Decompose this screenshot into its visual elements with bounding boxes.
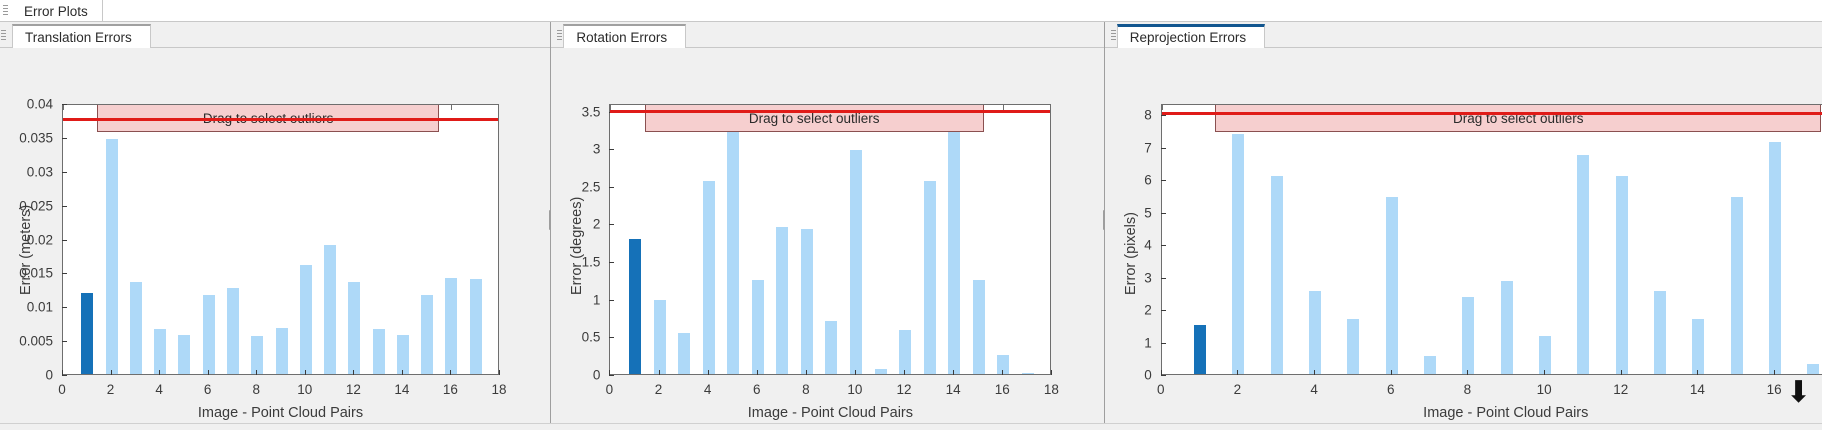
y-axis-tick-label: 0 (1105, 368, 1152, 383)
x-axis-tick-mark (111, 370, 112, 375)
bar[interactable] (973, 280, 985, 374)
x-axis-tick-mark (62, 370, 63, 375)
x-axis-tick-mark (1391, 370, 1392, 375)
bar[interactable] (1501, 281, 1513, 374)
bar[interactable] (1539, 336, 1551, 374)
bar[interactable] (348, 282, 360, 374)
document-tab-strip-background (0, 0, 1822, 22)
x-axis-tick-label: 10 (1537, 382, 1552, 397)
tab-label-rotation-errors: Rotation Errors (576, 30, 667, 45)
bar[interactable] (1462, 297, 1474, 374)
y-axis-title: Error (pixels) (1123, 212, 1139, 295)
y-axis-tick-label: 0.01 (0, 300, 53, 315)
x-axis-tick-mark (757, 370, 758, 375)
x-axis-title: Image - Point Cloud Pairs (748, 405, 913, 421)
document-tab-strip: Error Plots (0, 0, 1822, 22)
panel-translation-errors: Translation Errors Drag to select outlie… (0, 22, 550, 430)
y-axis-tick-mark (62, 206, 67, 207)
bar[interactable] (875, 369, 887, 374)
bar[interactable] (106, 139, 118, 374)
y-axis-tick-mark (1161, 245, 1166, 246)
bar[interactable] (924, 181, 936, 374)
y-axis-tick-mark (1161, 278, 1166, 279)
x-axis-tick-label: 4 (155, 382, 163, 397)
x-axis-tick-label: 8 (802, 382, 810, 397)
bar[interactable] (300, 265, 312, 374)
panel-tab-grip-icon-1[interactable] (1, 30, 6, 43)
panel-tabrow-1: Translation Errors (0, 22, 550, 48)
y-axis-tick-mark (62, 307, 67, 308)
y-axis-tick-label: 3.5 (551, 104, 600, 119)
x-axis-tick-mark (1161, 370, 1162, 375)
bar[interactable] (1577, 155, 1589, 374)
x-axis-tick-mark (904, 370, 905, 375)
x-axis-tick-mark (1544, 370, 1545, 375)
bar[interactable] (373, 329, 385, 374)
bar[interactable] (678, 333, 690, 374)
tab-rotation-errors[interactable]: Rotation Errors (563, 24, 686, 48)
bar[interactable] (130, 282, 142, 374)
x-axis-tick-label: 6 (1387, 382, 1395, 397)
x-axis-tick-label: 10 (297, 382, 312, 397)
bar[interactable] (1232, 134, 1244, 374)
x-axis-tick-label: 16 (995, 382, 1010, 397)
bar[interactable] (703, 181, 715, 374)
document-tab-error-plots[interactable]: Error Plots (12, 0, 103, 22)
bar[interactable] (178, 335, 190, 374)
y-axis-tick-mark (1161, 213, 1166, 214)
x-axis-tick-label: 14 (1690, 382, 1705, 397)
outlier-threshold-line[interactable] (1162, 112, 1822, 115)
x-axis-tick-label: 2 (655, 382, 663, 397)
y-axis-tick-mark (1161, 310, 1166, 311)
panels-container: Translation Errors Drag to select outlie… (0, 22, 1822, 430)
bar[interactable] (1271, 176, 1283, 374)
x-axis-tick-mark (450, 370, 451, 375)
bar[interactable] (203, 295, 215, 374)
y-axis-tick-mark (609, 187, 614, 188)
outlier-threshold-line[interactable] (610, 110, 1051, 113)
y-axis-tick-label: 0.5 (551, 330, 600, 345)
x-axis-tick-label: 18 (1044, 382, 1059, 397)
y-axis-tick-mark (609, 375, 614, 376)
x-axis-tick-mark (1314, 370, 1315, 375)
y-axis-tick-label: 7 (1105, 140, 1152, 155)
y-axis-tick-label: 2 (1105, 303, 1152, 318)
bar[interactable] (1616, 176, 1628, 374)
y-axis-tick-label: 0 (0, 368, 53, 383)
x-axis-tick-mark (708, 370, 709, 375)
y-axis-tick-mark (609, 300, 614, 301)
panel-tabrow-3: Reprojection Errors (1105, 22, 1822, 48)
bar[interactable] (324, 245, 336, 374)
x-axis-tick-mark (208, 370, 209, 375)
bar[interactable] (752, 280, 764, 374)
bar[interactable] (251, 336, 263, 374)
y-axis-tick-label: 1 (1105, 335, 1152, 350)
plot-area[interactable]: Drag to select outliers (609, 104, 1051, 375)
tab-label-reprojection-errors: Reprojection Errors (1130, 30, 1246, 45)
y-axis-tick-mark (62, 341, 67, 342)
bar[interactable] (1309, 291, 1321, 374)
x-axis-tick-label: 16 (443, 382, 458, 397)
x-axis-tick-label: 2 (1234, 382, 1242, 397)
x-axis-tick-mark (402, 370, 403, 375)
x-axis-tick-mark (1621, 370, 1622, 375)
tab-translation-errors[interactable]: Translation Errors (12, 24, 151, 48)
x-axis-tick-label: 6 (753, 382, 761, 397)
x-axis-tick-mark (159, 370, 160, 375)
y-axis-tick-mark (1161, 343, 1166, 344)
bar[interactable] (445, 278, 457, 374)
bar[interactable] (1807, 364, 1819, 374)
y-axis-tick-label: 3 (551, 142, 600, 157)
x-axis-tick-mark (609, 370, 610, 375)
bar[interactable] (421, 295, 433, 374)
tab-label-translation-errors: Translation Errors (25, 30, 132, 45)
bar[interactable] (801, 229, 813, 374)
bar[interactable] (1692, 319, 1704, 374)
bar[interactable] (727, 131, 739, 374)
x-axis-tick-label: 18 (491, 382, 506, 397)
x-axis-tick-mark (659, 370, 660, 375)
y-axis-tick-label: 8 (1105, 108, 1152, 123)
y-axis-tick-label: 0.035 (0, 130, 53, 145)
bar[interactable] (1424, 356, 1436, 374)
plot-area[interactable]: Drag to select outliers (62, 104, 499, 375)
x-axis-tick-label: 14 (394, 382, 409, 397)
x-axis-tick-mark (806, 370, 807, 375)
x-axis-tick-label: 2 (107, 382, 115, 397)
bar[interactable] (899, 330, 911, 374)
outlier-selection-band[interactable]: Drag to select outliers (645, 104, 984, 132)
y-axis-tick-mark (62, 375, 67, 376)
panel-reprojection-errors: Reprojection Errors Drag to select outli… (1105, 22, 1822, 430)
x-axis-tick-label: 8 (252, 382, 260, 397)
outlier-selection-band[interactable]: Drag to select outliers (1215, 104, 1821, 132)
x-axis-tick-mark (1697, 370, 1698, 375)
y-axis-tick-mark (62, 138, 67, 139)
bar[interactable] (850, 150, 862, 374)
y-axis-tick-mark (62, 240, 67, 241)
y-axis-tick-mark (609, 262, 614, 263)
x-axis-tick-mark (1467, 370, 1468, 375)
mouse-cursor-icon: ⬇ (1786, 378, 1811, 408)
chart-reprojection-errors[interactable]: Drag to select outliers01234567802468101… (1105, 48, 1822, 430)
y-axis-tick-mark (609, 337, 614, 338)
bar[interactable] (1386, 197, 1398, 374)
y-axis-tick-mark (1161, 375, 1166, 376)
x-axis-tick-mark (305, 370, 306, 375)
y-axis-tick-label: 0.005 (0, 334, 53, 349)
y-axis-title: Error (meters) (18, 204, 34, 294)
bar[interactable] (1654, 291, 1666, 374)
x-axis-tick-mark (499, 370, 500, 375)
y-axis-tick-label: 6 (1105, 173, 1152, 188)
y-axis-tick-mark (609, 224, 614, 225)
bar[interactable] (470, 279, 482, 374)
x-axis-tick-mark (1051, 370, 1052, 375)
panel-rotation-errors: Rotation Errors Drag to select outliers0… (551, 22, 1103, 430)
x-axis-tick-mark (953, 370, 954, 375)
y-axis-tick-mark (609, 149, 614, 150)
x-axis-tick-label: 12 (897, 382, 912, 397)
x-axis-tick-label: 0 (606, 382, 614, 397)
y-axis-title: Error (degrees) (569, 196, 585, 294)
x-axis-tick-label: 0 (58, 382, 66, 397)
x-axis-title: Image - Point Cloud Pairs (1423, 405, 1588, 421)
bar[interactable] (397, 335, 409, 374)
y-axis-tick-label: 0.04 (0, 97, 53, 112)
panel-tabrow-2: Rotation Errors (551, 22, 1103, 48)
plot-area[interactable]: Drag to select outliers (1161, 104, 1822, 375)
x-axis-tick-mark (353, 370, 354, 375)
x-axis-tick-mark (1774, 370, 1775, 375)
chart-rotation-errors[interactable]: Drag to select outliers00.511.522.533.50… (551, 48, 1103, 430)
x-axis-tick-mark (1237, 370, 1238, 375)
x-axis-tick-mark (855, 370, 856, 375)
bar[interactable] (997, 355, 1009, 374)
chart-translation-errors[interactable]: Drag to select outliers00.0050.010.0150.… (0, 48, 550, 430)
y-axis-tick-mark (62, 273, 67, 274)
bar[interactable] (1347, 319, 1359, 374)
bar[interactable] (654, 300, 666, 374)
bar[interactable] (1731, 197, 1743, 374)
x-axis-tick-label: 16 (1767, 382, 1782, 397)
bar-selected[interactable] (81, 293, 93, 374)
y-axis-tick-label: 0.03 (0, 164, 53, 179)
x-axis-tick-label: 0 (1157, 382, 1165, 397)
bar[interactable] (776, 227, 788, 374)
y-axis-tick-label: 0 (551, 368, 600, 383)
bar-selected[interactable] (629, 239, 641, 375)
y-axis-tick-mark (1161, 115, 1166, 116)
bar[interactable] (154, 329, 166, 374)
x-axis-title: Image - Point Cloud Pairs (198, 405, 363, 421)
bottom-status-strip (0, 423, 1822, 430)
x-axis-tick-label: 4 (704, 382, 712, 397)
bar[interactable] (1769, 142, 1781, 374)
bar[interactable] (276, 328, 288, 374)
document-tab-grip-icon[interactable] (3, 5, 8, 18)
x-axis-tick-label: 8 (1464, 382, 1472, 397)
y-axis-tick-mark (62, 172, 67, 173)
x-axis-tick-label: 12 (1613, 382, 1628, 397)
bar[interactable] (948, 131, 960, 374)
panel-tab-grip-icon-2[interactable] (557, 30, 562, 43)
x-axis-tick-label: 14 (946, 382, 961, 397)
x-axis-tick-label: 4 (1310, 382, 1318, 397)
x-axis-tick-mark (1002, 370, 1003, 375)
tab-reprojection-errors[interactable]: Reprojection Errors (1117, 24, 1265, 48)
y-axis-tick-label: 2.5 (551, 179, 600, 194)
bar-selected[interactable] (1194, 325, 1206, 374)
x-axis-tick-label: 6 (204, 382, 212, 397)
y-axis-tick-mark (1161, 148, 1166, 149)
x-axis-tick-label: 12 (346, 382, 361, 397)
y-axis-tick-mark (1161, 180, 1166, 181)
outlier-threshold-line[interactable] (63, 118, 499, 121)
bar[interactable] (1022, 373, 1034, 375)
document-tab-label: Error Plots (24, 4, 88, 19)
bar[interactable] (825, 321, 837, 374)
x-axis-tick-mark (256, 370, 257, 375)
panel-tab-grip-icon-3[interactable] (1111, 30, 1116, 43)
x-axis-tick-label: 10 (847, 382, 862, 397)
bar[interactable] (227, 288, 239, 374)
